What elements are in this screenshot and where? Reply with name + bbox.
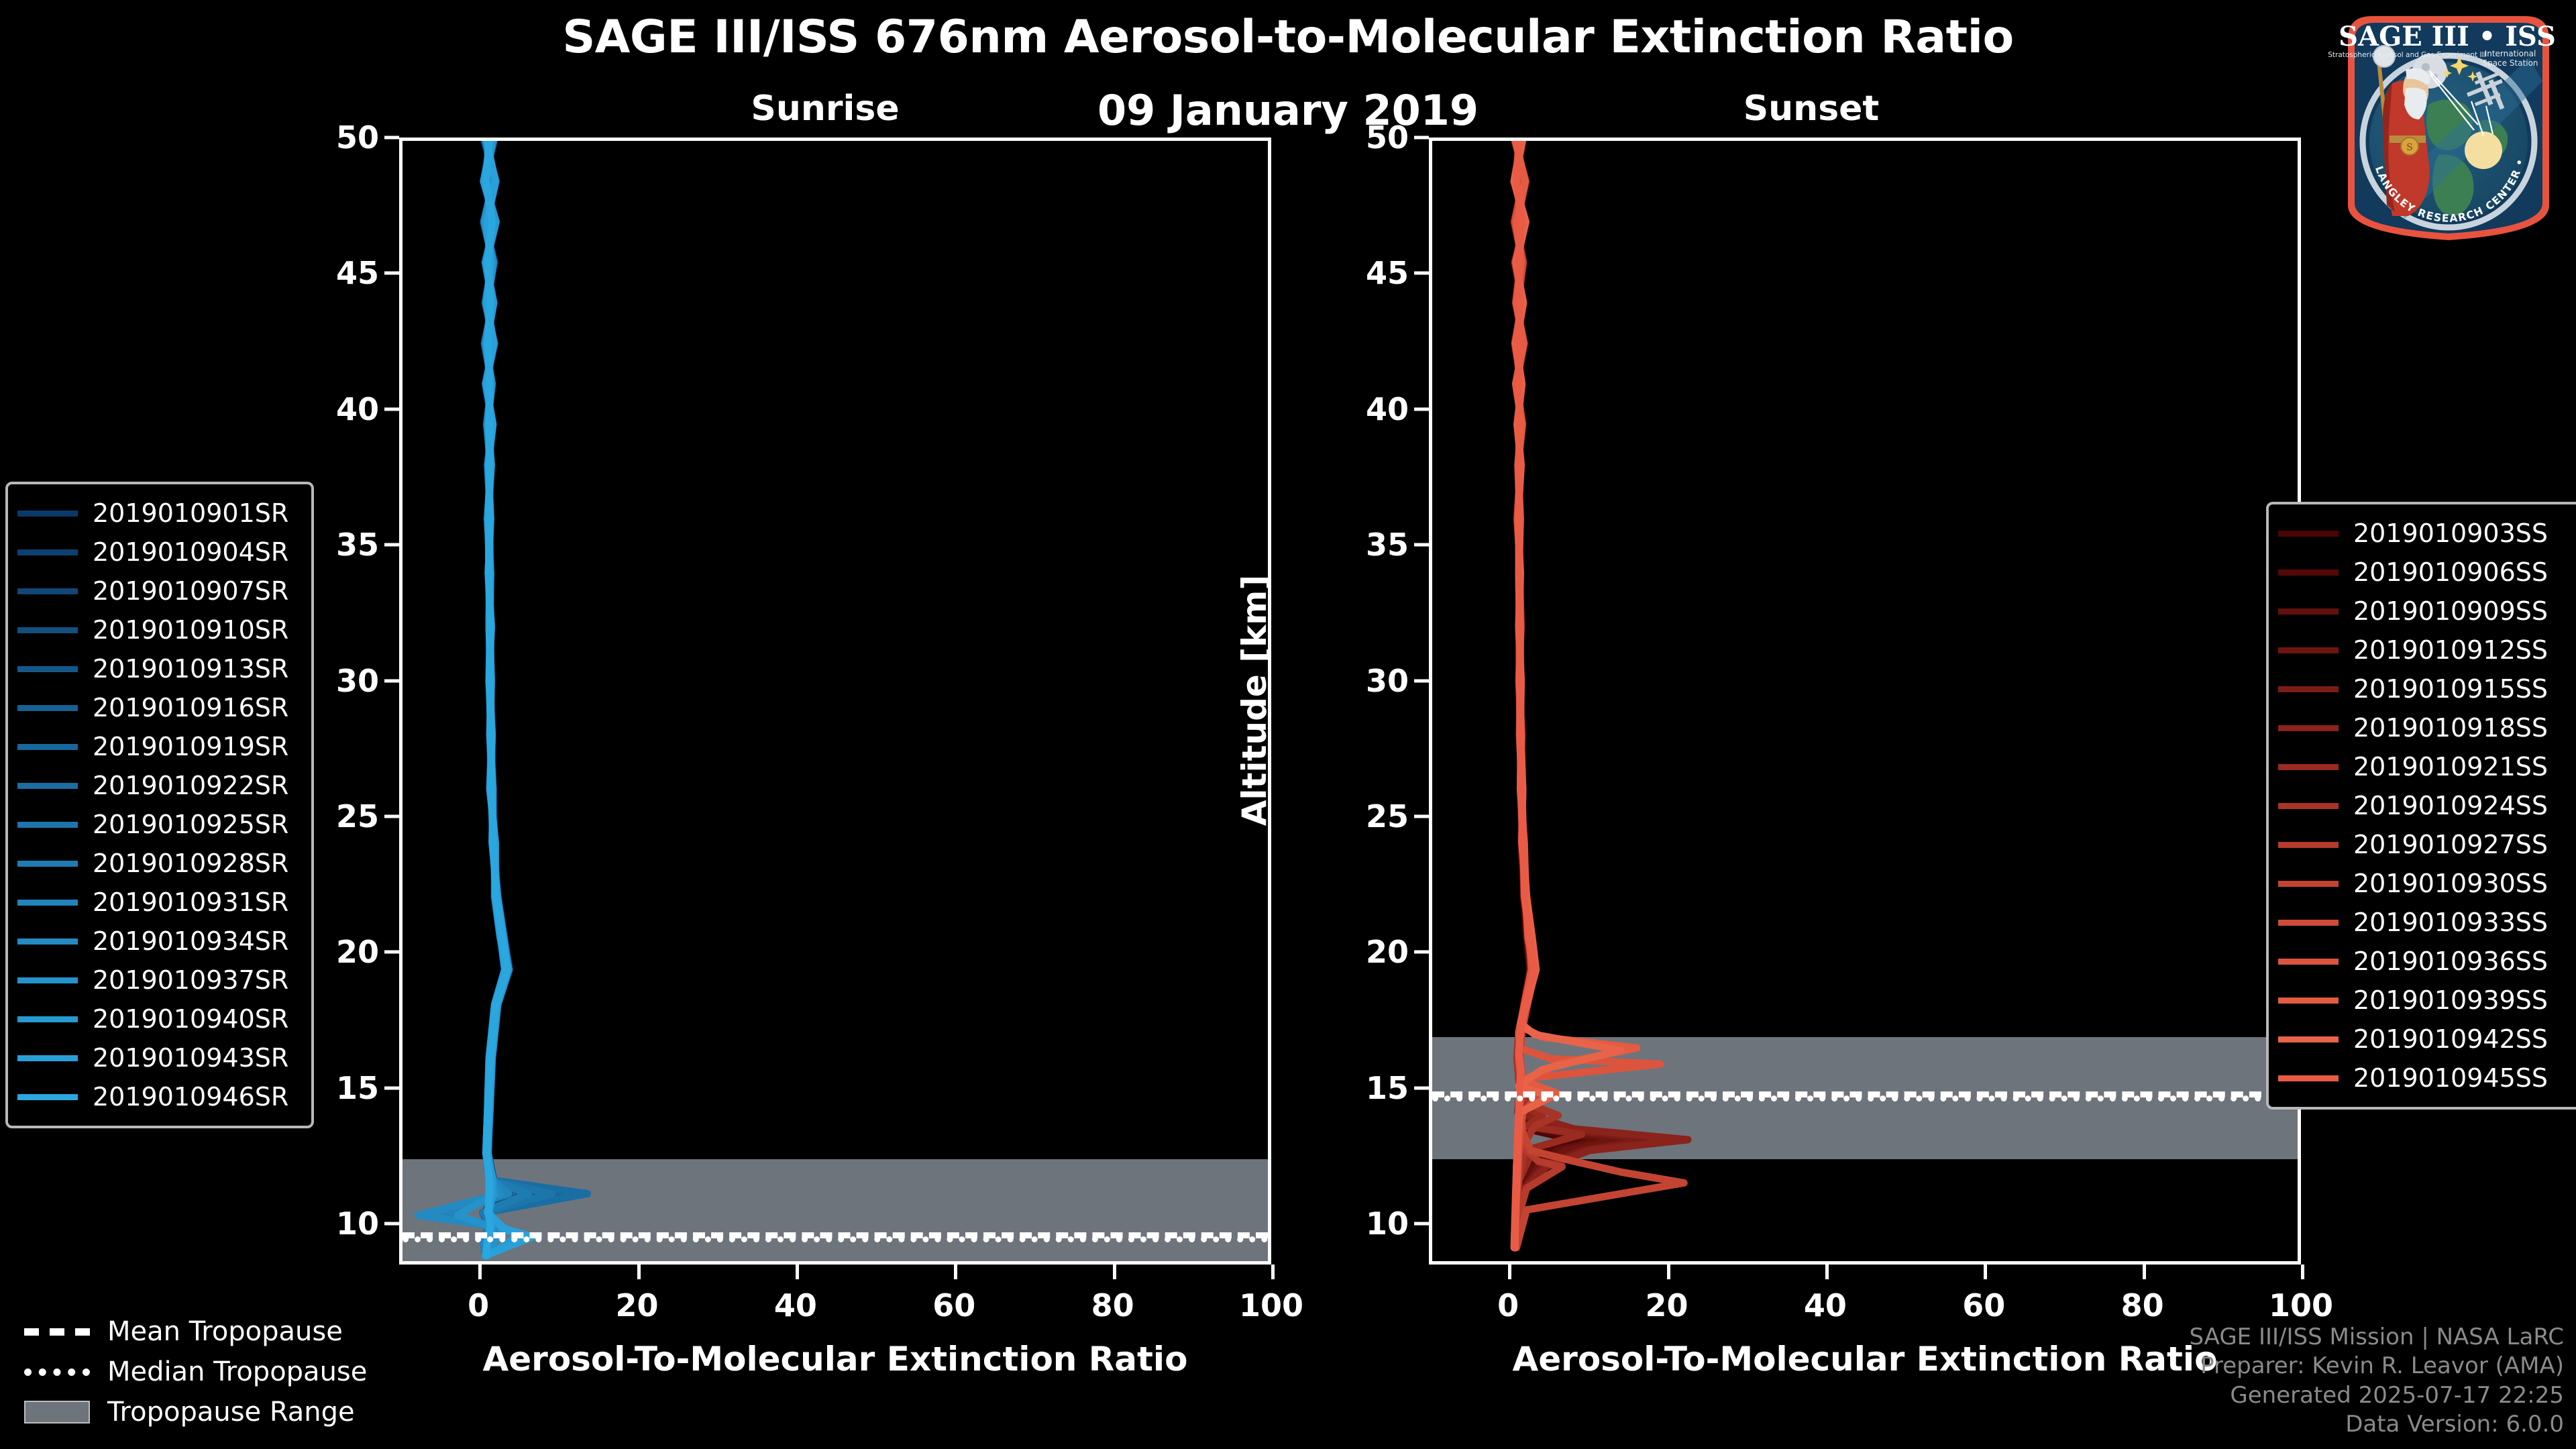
y-axis-tick-label: 45: [299, 255, 379, 291]
plot-panel-sunrise: 101520253035404550020406080100Altitude […: [399, 138, 1271, 1265]
plot-area-sunrise: [399, 138, 1271, 1265]
x-axis-tick-label: 40: [742, 1287, 849, 1324]
x-axis-tick-label: 20: [1613, 1287, 1721, 1324]
legend-color-swatch: [17, 783, 78, 789]
legend-item[interactable]: 2019010942SS: [2278, 1020, 2568, 1059]
y-axis-tick-mark: [384, 272, 399, 275]
y-axis-tick-mark: [384, 1086, 399, 1089]
legend-item[interactable]: 2019010934SR: [17, 922, 299, 961]
y-axis-tick-label: 45: [1328, 255, 1409, 291]
y-axis-tick-label: 25: [1328, 798, 1409, 835]
legend-color-swatch: [17, 511, 78, 517]
legend-item[interactable]: 2019010927SS: [2278, 825, 2568, 864]
legend-series-label: 2019010928SR: [93, 849, 288, 878]
y-axis-tick-mark: [1414, 679, 1429, 682]
legend-series-label: 2019010937SR: [93, 965, 288, 995]
y-axis-tick-mark: [1414, 136, 1429, 140]
legend-item[interactable]: 2019010933SS: [2278, 903, 2568, 942]
legend-series-label: 2019010913SR: [93, 654, 288, 684]
legend-series-label: 2019010934SR: [93, 926, 288, 956]
legend-color-swatch: [17, 938, 78, 945]
legend-item[interactable]: 2019010931SR: [17, 883, 299, 922]
plot-panel-sunset: 101520253035404550020406080100Altitude […: [1429, 138, 2301, 1265]
legend-item[interactable]: 2019010915SS: [2278, 669, 2568, 708]
x-axis-tick-mark: [1825, 1265, 1829, 1279]
series-line: [1515, 141, 1637, 1248]
legend-item[interactable]: 2019010937SR: [17, 961, 299, 1000]
legend-color-swatch: [2278, 725, 2339, 731]
y-axis-tick-mark: [384, 679, 399, 682]
x-axis-tick-mark: [478, 1265, 482, 1279]
legend-item[interactable]: 2019010945SS: [2278, 1059, 2568, 1097]
x-axis-tick-mark: [1271, 1265, 1275, 1279]
legend-series-label: 2019010904SR: [93, 537, 288, 567]
legend-item[interactable]: 2019010940SR: [17, 1000, 299, 1038]
legend-series-label: 2019010918SS: [2353, 713, 2548, 743]
legend-color-swatch: [2278, 647, 2339, 653]
y-axis-tick-mark: [1414, 1086, 1429, 1089]
series-line: [486, 141, 587, 1256]
median-tropopause-label: Median Tropopause: [107, 1356, 367, 1387]
y-axis-tick-mark: [1414, 951, 1429, 954]
legend-color-swatch: [17, 549, 78, 555]
legend-item[interactable]: 2019010904SR: [17, 533, 299, 572]
legend-item[interactable]: 2019010913SR: [17, 649, 299, 688]
legend-series-label: 2019010922SR: [93, 771, 288, 800]
median-tropopause-dot-icon: [24, 1368, 90, 1376]
legend-item-mean-tropopause[interactable]: Mean Tropopause: [24, 1311, 367, 1352]
legend-series-label: 2019010915SS: [2353, 674, 2548, 704]
x-axis-title: Aerosol-To-Molecular Extinction Ratio: [399, 1340, 1271, 1379]
legend-sunset[interactable]: 2019010903SS2019010906SS2019010909SS2019…: [2266, 502, 2576, 1110]
legend-color-swatch: [17, 744, 78, 750]
x-axis-tick-mark: [796, 1265, 799, 1279]
y-axis-tick-label: 40: [299, 391, 379, 427]
legend-series-label: 2019010903SS: [2353, 519, 2548, 548]
legend-series-label: 2019010907SR: [93, 576, 288, 606]
x-axis-tick-mark: [2143, 1265, 2146, 1279]
svg-text:S: S: [2406, 142, 2413, 153]
legend-color-swatch: [17, 1094, 78, 1100]
series-traces-sunrise: [402, 141, 1268, 1261]
x-axis-tick-mark: [1667, 1265, 1670, 1279]
legend-item-tropopause-range[interactable]: Tropopause Range: [24, 1392, 367, 1432]
legend-item[interactable]: 2019010919SR: [17, 727, 299, 766]
legend-series-label: 2019010909SS: [2353, 596, 2548, 626]
y-axis-tick-mark: [1414, 272, 1429, 275]
legend-series-label: 2019010939SS: [2353, 985, 2548, 1015]
logo-subtitle-right-1: International: [2485, 49, 2536, 58]
legend-series-label: 2019010921SS: [2353, 752, 2548, 782]
x-axis-tick-label: 0: [1454, 1287, 1562, 1324]
legend-series-label: 2019010940SR: [93, 1004, 288, 1034]
series-line: [1515, 141, 1684, 1248]
credits-line-preparer: Preparer: Kevin R. Leavor (AMA): [2189, 1352, 2564, 1381]
series-line: [1514, 141, 1621, 1248]
legend-color-swatch: [17, 588, 78, 594]
y-axis-tick-label: 20: [1328, 934, 1409, 970]
y-axis-tick-label: 50: [299, 119, 379, 156]
legend-color-swatch: [17, 900, 78, 906]
x-axis-tick-mark: [2301, 1265, 2304, 1279]
x-axis-title: Aerosol-To-Molecular Extinction Ratio: [1429, 1340, 2301, 1379]
x-axis-tick-mark: [637, 1265, 641, 1279]
legend-color-swatch: [17, 666, 78, 672]
series-line: [1515, 141, 1660, 1248]
legend-series-label: 2019010912SS: [2353, 635, 2548, 665]
x-axis-tick-mark: [1984, 1265, 1987, 1279]
y-axis-tick-label: 10: [1328, 1205, 1409, 1242]
legend-item[interactable]: 2019010922SR: [17, 766, 299, 805]
page-title: SAGE III/ISS 676nm Aerosol-to-Molecular …: [0, 11, 2576, 64]
legend-series-label: 2019010930SS: [2353, 869, 2548, 898]
x-axis-tick-mark: [1113, 1265, 1116, 1279]
legend-series-label: 2019010916SR: [93, 693, 288, 722]
sage-iii-iss-mission-patch-logo: S BALL • NASA LANGLEY RESEARCH CENTER • …: [2328, 4, 2569, 246]
legend-item-median-tropopause[interactable]: Median Tropopause: [24, 1352, 367, 1392]
y-axis-tick-mark: [384, 951, 399, 954]
legend-color-swatch: [17, 1055, 78, 1061]
legend-color-swatch: [17, 1016, 78, 1022]
legend-series-label: 2019010946SR: [93, 1082, 288, 1112]
legend-item[interactable]: 2019010901SR: [17, 494, 299, 533]
legend-color-swatch: [2278, 881, 2339, 887]
legend-series-label: 2019010933SS: [2353, 908, 2548, 937]
legend-series-label: 2019010919SR: [93, 732, 288, 761]
y-axis-title: Altitude [km]: [1235, 526, 1274, 875]
date-subtitle: 09 January 2019: [0, 86, 2576, 135]
legend-series-label: 2019010910SR: [93, 615, 288, 645]
y-axis-tick-label: 35: [1328, 527, 1409, 563]
y-axis-tick-label: 10: [299, 1205, 379, 1242]
y-axis-tick-mark: [384, 1222, 399, 1226]
credits-line-data-version: Data Version: 6.0.0: [2189, 1410, 2564, 1440]
legend-item[interactable]: 2019010925SR: [17, 805, 299, 844]
y-axis-tick-mark: [384, 136, 399, 140]
legend-color-swatch: [2278, 842, 2339, 848]
y-axis-tick-mark: [1414, 407, 1429, 411]
y-axis-tick-mark: [1414, 1222, 1429, 1226]
legend-item[interactable]: 2019010928SR: [17, 844, 299, 883]
legend-item[interactable]: 2019010921SS: [2278, 747, 2568, 786]
legend-color-swatch: [2278, 686, 2339, 692]
legend-color-swatch: [17, 977, 78, 983]
legend-series-label: 2019010931SR: [93, 888, 288, 917]
tropopause-range-swatch-icon: [24, 1401, 90, 1424]
logo-subtitle-left: Stratospheric Aerosol and Gas Experiment…: [2328, 51, 2486, 59]
legend-color-swatch: [2278, 764, 2339, 770]
legend-item[interactable]: 2019010910SR: [17, 610, 299, 649]
legend-sunrise[interactable]: 2019010901SR2019010904SR2019010907SR2019…: [5, 482, 314, 1128]
series-line: [458, 141, 506, 1256]
tropopause-range-label: Tropopause Range: [107, 1397, 355, 1428]
median-tropopause-line: [1432, 1095, 2298, 1102]
legend-item[interactable]: 2019010924SS: [2278, 786, 2568, 825]
y-axis-tick-mark: [384, 815, 399, 818]
credits-block: SAGE III/ISS Mission | NASA LaRC Prepare…: [2189, 1323, 2564, 1440]
y-axis-tick-label: 30: [1328, 663, 1409, 699]
median-tropopause-line: [402, 1236, 1268, 1242]
series-line: [442, 141, 509, 1256]
legend-series-label: 2019010936SS: [2353, 947, 2548, 976]
x-axis-tick-mark: [954, 1265, 957, 1279]
y-axis-tick-label: 15: [1328, 1070, 1409, 1106]
legend-color-swatch: [17, 627, 78, 633]
y-axis-tick-mark: [384, 407, 399, 411]
credits-line-generated: Generated 2025-07-17 22:25: [2189, 1381, 2564, 1411]
legend-series-label: 2019010942SS: [2353, 1024, 2548, 1054]
legend-color-swatch: [2278, 920, 2339, 926]
legend-item[interactable]: 2019010936SS: [2278, 942, 2568, 981]
legend-color-swatch: [2278, 531, 2339, 537]
legend-color-swatch: [2278, 959, 2339, 965]
legend-item[interactable]: 2019010943SR: [17, 1038, 299, 1077]
y-axis-tick-label: 40: [1328, 391, 1409, 427]
legend-item[interactable]: 2019010907SR: [17, 572, 299, 610]
legend-item[interactable]: 2019010916SR: [17, 688, 299, 727]
tropopause-legend: Mean Tropopause Median Tropopause Tropop…: [24, 1311, 367, 1432]
x-axis-tick-label: 0: [425, 1287, 532, 1324]
legend-item[interactable]: 2019010946SR: [17, 1077, 299, 1116]
y-axis-tick-mark: [384, 543, 399, 547]
legend-color-swatch: [2278, 608, 2339, 614]
legend-series-label: 2019010927SS: [2353, 830, 2548, 859]
legend-series-label: 2019010906SS: [2353, 557, 2548, 587]
x-axis-tick-label: 40: [1772, 1287, 1879, 1324]
legend-item[interactable]: 2019010903SS: [2278, 514, 2568, 553]
mean-tropopause-label: Mean Tropopause: [107, 1316, 343, 1347]
legend-color-swatch: [2278, 998, 2339, 1004]
y-axis-tick-mark: [1414, 815, 1429, 818]
x-axis-tick-mark: [1508, 1265, 1511, 1279]
y-axis-tick-mark: [1414, 543, 1429, 547]
x-axis-tick-label: 20: [584, 1287, 691, 1324]
legend-series-label: 2019010943SR: [93, 1043, 288, 1073]
legend-item[interactable]: 2019010912SS: [2278, 631, 2568, 669]
x-axis-tick-label: 100: [1218, 1287, 1325, 1324]
logo-subtitle-right-2: Space Station: [2482, 58, 2538, 68]
legend-series-label: 2019010945SS: [2353, 1063, 2548, 1093]
legend-item[interactable]: 2019010906SS: [2278, 553, 2568, 592]
sunset-panel-title: Sunset: [1590, 89, 2033, 129]
legend-color-swatch: [17, 861, 78, 867]
legend-item[interactable]: 2019010939SS: [2278, 981, 2568, 1020]
legend-color-swatch: [17, 705, 78, 711]
legend-color-swatch: [2278, 1036, 2339, 1042]
x-axis-tick-label: 80: [1059, 1287, 1167, 1324]
sunrise-panel-title: Sunrise: [604, 89, 1046, 129]
logo-title: SAGE III • ISS: [2339, 21, 2556, 52]
legend-color-swatch: [2278, 1075, 2339, 1081]
x-axis-tick-label: 80: [2089, 1287, 2196, 1324]
x-axis-tick-label: 60: [1930, 1287, 2037, 1324]
x-axis-tick-label: 60: [900, 1287, 1008, 1324]
mean-tropopause-dash-icon: [24, 1328, 90, 1336]
legend-series-label: 2019010924SS: [2353, 791, 2548, 820]
series-line: [1515, 141, 1688, 1248]
legend-color-swatch: [17, 822, 78, 828]
legend-color-swatch: [2278, 570, 2339, 576]
legend-color-swatch: [2278, 803, 2339, 809]
credits-line-mission: SAGE III/ISS Mission | NASA LaRC: [2189, 1323, 2564, 1352]
legend-series-label: 2019010925SR: [93, 810, 288, 839]
legend-item[interactable]: 2019010918SS: [2278, 708, 2568, 747]
plot-area-sunset: [1429, 138, 2301, 1265]
legend-series-label: 2019010901SR: [93, 498, 288, 528]
legend-item[interactable]: 2019010909SS: [2278, 592, 2568, 631]
x-axis-tick-label: 100: [2247, 1287, 2355, 1324]
y-axis-tick-label: 50: [1328, 119, 1409, 156]
legend-item[interactable]: 2019010930SS: [2278, 864, 2568, 903]
